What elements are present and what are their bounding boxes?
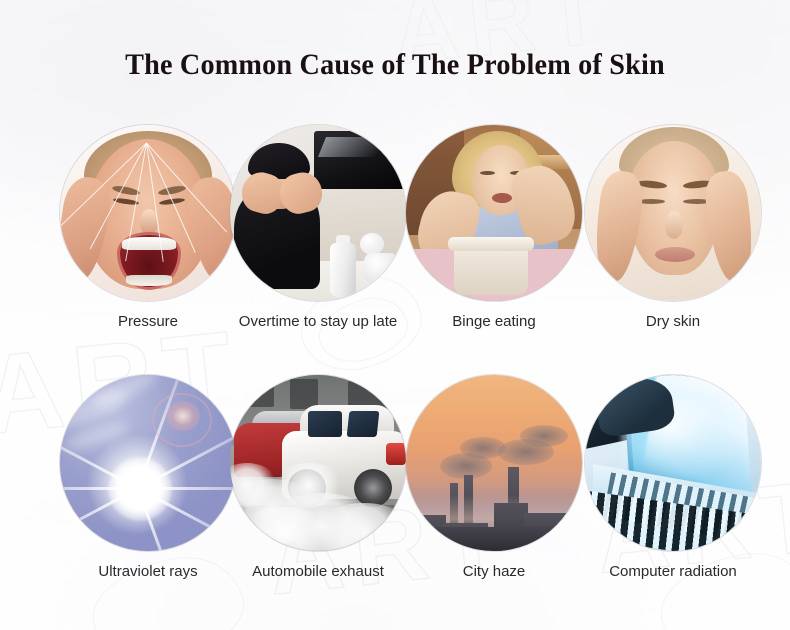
cause-image-automobile-exhaust bbox=[230, 375, 406, 551]
cause-item-pressure: Pressure bbox=[60, 125, 236, 330]
cause-label-city-haze: City haze bbox=[406, 563, 582, 580]
cause-label-overtime: Overtime to stay up late bbox=[230, 313, 406, 330]
late-night-woman-illustration bbox=[230, 125, 406, 301]
cause-item-overtime: Overtime to stay up late bbox=[230, 125, 406, 330]
dry-skin-woman-illustration bbox=[585, 125, 761, 301]
cause-image-ultraviolet-rays bbox=[60, 375, 236, 551]
car-exhaust-illustration bbox=[230, 375, 406, 551]
smog-skyline-illustration bbox=[406, 375, 582, 551]
skin-problem-causes-poster: ART ART ART ART ART The Common Cause of … bbox=[0, 0, 790, 630]
cause-label-dry-skin: Dry skin bbox=[585, 313, 761, 330]
cause-item-ultraviolet-rays: Ultraviolet rays bbox=[60, 375, 236, 580]
cause-image-overtime bbox=[230, 125, 406, 301]
cause-item-dry-skin: Dry skin bbox=[585, 125, 761, 330]
stressed-woman-illustration bbox=[60, 125, 236, 301]
glowing-laptop-illustration bbox=[585, 375, 761, 551]
cause-item-automobile-exhaust: Automobile exhaust bbox=[230, 375, 406, 580]
cause-image-pressure bbox=[60, 125, 236, 301]
binge-eating-illustration bbox=[406, 125, 582, 301]
cause-item-computer-radiation: Computer radiation bbox=[585, 375, 761, 580]
cause-image-city-haze bbox=[406, 375, 582, 551]
cause-image-binge-eating bbox=[406, 125, 582, 301]
cause-label-pressure: Pressure bbox=[60, 313, 236, 330]
cause-label-binge-eating: Binge eating bbox=[406, 313, 582, 330]
cause-label-computer-radiation: Computer radiation bbox=[585, 563, 761, 580]
cause-image-computer-radiation bbox=[585, 375, 761, 551]
sun-flare-illustration bbox=[60, 375, 236, 551]
cause-label-ultraviolet-rays: Ultraviolet rays bbox=[60, 563, 236, 580]
page-title: The Common Cause of The Problem of Skin bbox=[24, 48, 767, 82]
cause-label-automobile-exhaust: Automobile exhaust bbox=[230, 563, 406, 580]
cause-item-city-haze: City haze bbox=[406, 375, 582, 580]
cause-image-dry-skin bbox=[585, 125, 761, 301]
cause-item-binge-eating: Binge eating bbox=[406, 125, 582, 330]
